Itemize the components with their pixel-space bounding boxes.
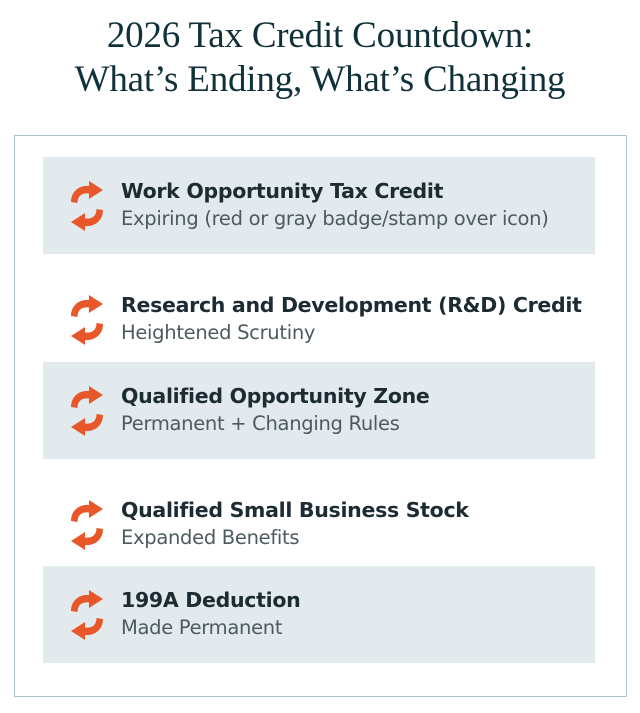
list-item-title: 199A Deduction <box>121 587 300 613</box>
list-item-subtitle: Expanded Benefits <box>121 524 469 552</box>
cycle-arrows-icon <box>59 379 115 443</box>
list-item[interactable]: Work Opportunity Tax Credit Expiring (re… <box>43 157 595 254</box>
list-item-title: Qualified Small Business Stock <box>121 497 469 523</box>
page-title: 2026 Tax Credit Countdown: What’s Ending… <box>0 14 640 102</box>
content-card: Work Opportunity Tax Credit Expiring (re… <box>14 135 627 697</box>
list-item-text: Qualified Small Business Stock Expanded … <box>115 497 469 552</box>
list-item-text: Qualified Opportunity Zone Permanent + C… <box>115 383 430 438</box>
list-item-text: 199A Deduction Made Permanent <box>115 587 300 642</box>
cycle-arrows-icon <box>59 583 115 647</box>
list-item-text: Work Opportunity Tax Credit Expiring (re… <box>115 178 549 233</box>
list-item[interactable]: 199A Deduction Made Permanent <box>43 566 595 663</box>
list-item-subtitle: Made Permanent <box>121 614 300 642</box>
list-item-subtitle: Permanent + Changing Rules <box>121 410 430 438</box>
infographic-page: 2026 Tax Credit Countdown: What’s Ending… <box>0 0 640 713</box>
list-item-subtitle: Heightened Scrutiny <box>121 319 582 347</box>
list-item-title: Qualified Opportunity Zone <box>121 383 430 409</box>
list-item[interactable]: Qualified Opportunity Zone Permanent + C… <box>43 362 595 459</box>
list-item-subtitle: Expiring (red or gray badge/stamp over i… <box>121 205 549 233</box>
cycle-arrows-icon <box>59 493 115 557</box>
list-item-title: Work Opportunity Tax Credit <box>121 178 549 204</box>
list-item-text: Research and Development (R&D) Credit He… <box>115 292 582 347</box>
cycle-arrows-icon <box>59 174 115 238</box>
page-title-line-2: What’s Ending, What’s Changing <box>0 58 640 102</box>
page-title-line-1: 2026 Tax Credit Countdown: <box>0 14 640 58</box>
list-item-title: Research and Development (R&D) Credit <box>121 292 582 318</box>
cycle-arrows-icon <box>59 288 115 352</box>
list-item[interactable]: Qualified Small Business Stock Expanded … <box>43 476 595 573</box>
list-item[interactable]: Research and Development (R&D) Credit He… <box>43 271 595 368</box>
